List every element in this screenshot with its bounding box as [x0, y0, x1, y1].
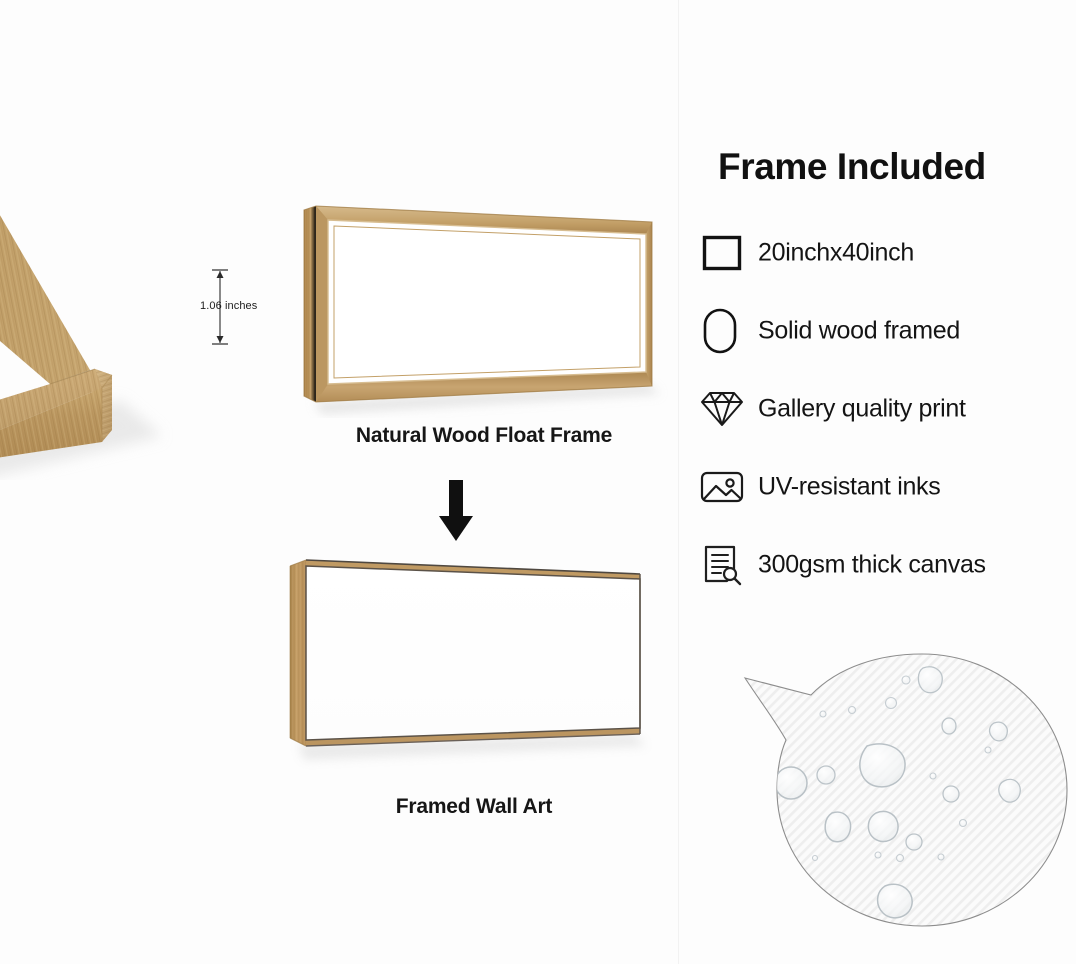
feature-item-gallery-print: Gallery quality print: [698, 370, 1076, 448]
dimension-label: 1.06 inches: [200, 300, 257, 312]
wood-frame-corner-photo: [0, 150, 220, 480]
square-icon: [698, 229, 746, 277]
feature-label-uv-inks: UV-resistant inks: [758, 473, 940, 502]
feature-label-size: 20inchx40inch: [758, 239, 914, 268]
document-search-icon: [698, 541, 746, 589]
gem-icon: [698, 385, 746, 433]
water-droplet-canvas-swatch: [736, 650, 1076, 940]
wall-art-caption: Framed Wall Art: [278, 795, 670, 819]
feature-item-size: 20inchx40inch: [698, 214, 1076, 292]
image-photo-icon: [698, 463, 746, 511]
page-title: Frame Included: [718, 146, 986, 188]
feature-item-canvas-weight: 300gsm thick canvas: [698, 526, 1076, 604]
natural-wood-float-frame-illustration: [288, 196, 680, 418]
feature-item-uv-inks: UV-resistant inks: [698, 448, 1076, 526]
feature-item-solid-wood: Solid wood framed: [698, 292, 1076, 370]
float-frame-caption: Natural Wood Float Frame: [288, 424, 680, 448]
rounded-pill-icon: [698, 307, 746, 355]
feature-label-gallery-print: Gallery quality print: [758, 395, 966, 424]
panel-divider: [678, 0, 679, 964]
framed-wall-art-illustration: [278, 548, 670, 788]
feature-label-solid-wood: Solid wood framed: [758, 317, 960, 346]
infographic-canvas: 1.06 inches: [0, 0, 1076, 964]
down-arrow-icon: [438, 480, 474, 542]
feature-list: 20inchx40inch Solid wood framed: [698, 214, 1076, 604]
feature-label-canvas-weight: 300gsm thick canvas: [758, 551, 986, 580]
